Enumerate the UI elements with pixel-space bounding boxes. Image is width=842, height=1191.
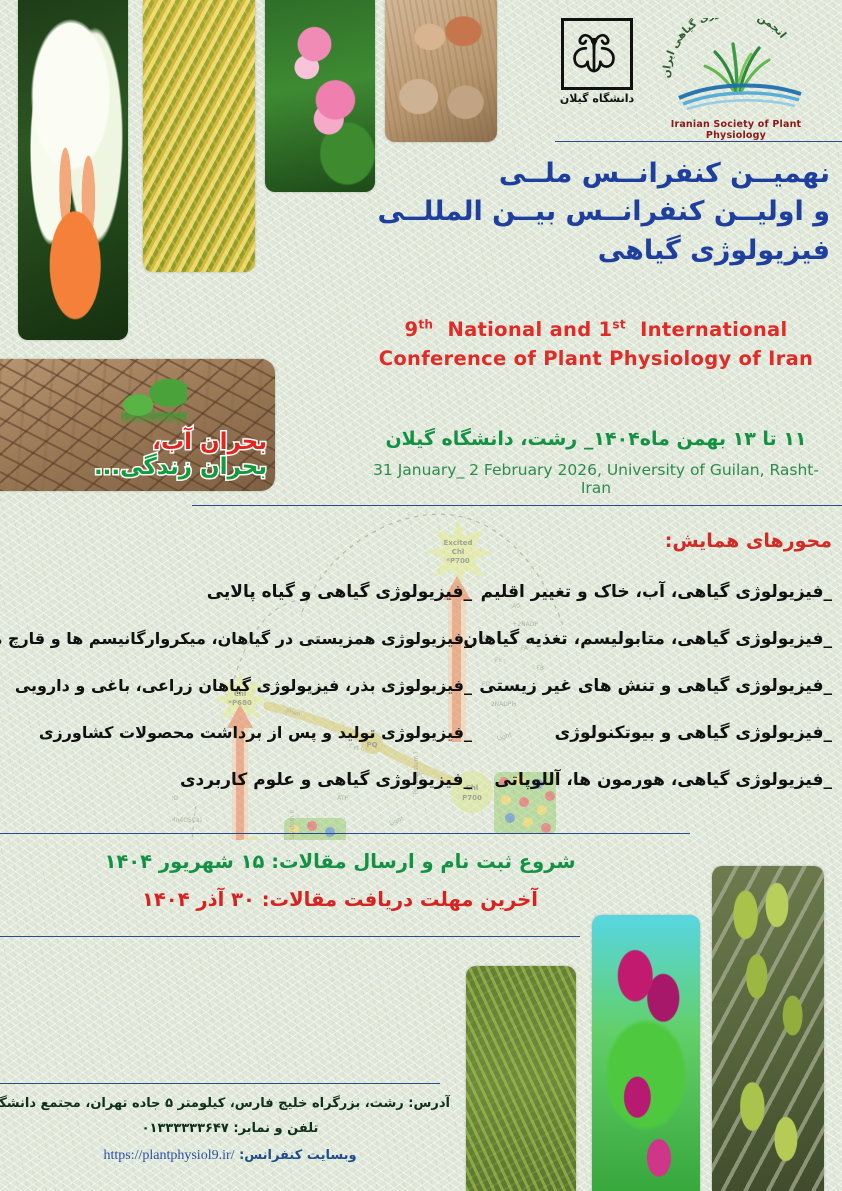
title-en-mid: National and 1 xyxy=(447,318,612,341)
topic-item-r4: _فیزیولوژی گیاهی و بیوتکنولوژی xyxy=(442,723,832,770)
conference-poster: دانشگاه گیلان انجمن فیزیولوژی گیاهی ایرا… xyxy=(0,0,842,1191)
footer-phone: تلفن و نمابر: ۰۱۳۳۳۳۳۳۶۴۷ xyxy=(10,1121,450,1136)
iranian-society-of-plant-physiology-logo: انجمن فیزیولوژی گیاهی ایران Iranian Soci… xyxy=(661,18,811,141)
photo-dry-soil-sprout: بحران آب، بحران زندگی... xyxy=(0,359,275,491)
deadline-registration: شروع ثبت نام و ارسال مقالات: ۱۵ شهریور ۱… xyxy=(60,850,620,873)
svg-text:Excited: Excited xyxy=(444,539,473,547)
title-en-sup-st: st xyxy=(612,318,625,332)
svg-text:انجمن فیزیولوژی گیاهی ایران: انجمن فیزیولوژی گیاهی ایران xyxy=(661,18,788,79)
title-fa-line-1: نهمیــن کنفرانــس ملــی xyxy=(378,155,830,193)
photo-lily xyxy=(18,0,128,340)
divider-above-deadlines xyxy=(0,833,690,834)
title-en-line-2: Conference of Plant Physiology of Iran xyxy=(360,344,832,373)
topics-right-column: _فیزیولوژی گیاهی، آب، خاک و تغییر اقلیم … xyxy=(442,582,832,817)
title-en-sup-th: th xyxy=(418,318,433,332)
photo-echium xyxy=(592,915,700,1191)
guilan-emblem-icon xyxy=(561,18,633,90)
slogan-line-2: بحران زندگی... xyxy=(94,454,267,480)
footer-address: آدرس: رشت، بزرگراه خلیج فارس، کیلومتر ۵ … xyxy=(10,1096,450,1111)
logo-row: دانشگاه گیلان انجمن فیزیولوژی گیاهی ایرا… xyxy=(555,18,811,141)
title-en-ordinal-9: 9 xyxy=(405,318,419,341)
svg-text:(Mn4O5Ca): (Mn4O5Ca) xyxy=(172,817,202,824)
svg-text:P700*: P700* xyxy=(446,557,470,565)
photo-lotus xyxy=(265,0,375,192)
photo-herbs xyxy=(466,966,576,1191)
society-emblem-icon: انجمن فیزیولوژی گیاهی ایران xyxy=(661,18,811,114)
topic-item-r5: _فیزیولوژی گیاهی، هورمون ها، آللوپاتی xyxy=(442,770,832,817)
topic-item-r2: _فیزیولوژی گیاهی، متابولیسم، تغذیه گیاها… xyxy=(442,629,832,676)
deadline-submission: آخرین مهلت دریافت مقالات: ۳۰ آذر ۱۴۰۴ xyxy=(60,888,620,911)
english-title-block: 9th National and 1st International Confe… xyxy=(360,315,832,374)
topics-heading: محورهای همایش: xyxy=(542,530,832,552)
topic-item-l2: _فیزیولوژی همزیستی در گیاهان، میکروارگان… xyxy=(8,629,472,676)
topics-left-column: _فیزیولوژی گیاهی و گیاه پالایی _فیزیولوژ… xyxy=(8,582,472,817)
persian-title-block: نهمیــن کنفرانــس ملــی و اولیــن کنفران… xyxy=(378,155,830,270)
university-of-guilan-logo: دانشگاه گیلان xyxy=(555,18,639,105)
title-fa-line-2: و اولیــن کنفرانــس بیــن المللــی xyxy=(378,193,830,231)
title-en-post: International xyxy=(640,318,787,341)
footer-website-url[interactable]: https://plantphysiol9.ir/ xyxy=(103,1148,234,1163)
title-en-line-1: 9th National and 1st International xyxy=(360,315,832,344)
title-fa-line-3: فیزیولوژی گیاهی xyxy=(378,232,830,270)
photo-rice xyxy=(143,0,255,272)
topic-item-l3: _فیزیولوژی بذر، فیزیولوژی گیاهان زراعی، … xyxy=(8,676,472,723)
guilan-logo-caption: دانشگاه گیلان xyxy=(555,92,639,105)
water-crisis-slogan: بحران آب، بحران زندگی... xyxy=(94,430,267,482)
topic-item-l4: _فیزیولوژی تولید و پس از برداشت محصولات … xyxy=(8,723,472,770)
footer-website-label: وبسایت کنفرانس: xyxy=(239,1148,356,1163)
svg-text:Chl: Chl xyxy=(452,548,465,556)
topic-item-r1: _فیزیولوژی گیاهی، آب، خاک و تغییر اقلیم xyxy=(442,582,832,629)
topic-item-r3: _فیزیولوژی گیاهی و تنش های غیر زیستی xyxy=(442,676,832,723)
society-logo-caption: Iranian Society of Plant Physiology xyxy=(661,119,811,141)
topic-item-l1: _فیزیولوژی گیاهی و گیاه پالایی xyxy=(8,582,472,629)
photo-nuts xyxy=(385,0,497,142)
divider-below-deadlines xyxy=(0,936,580,937)
divider-under-banner xyxy=(192,505,842,506)
date-persian: ۱۱ تا ۱۳ بهمن ماه۱۴۰۴_ رشت، دانشگاه گیلا… xyxy=(360,428,832,450)
date-block: ۱۱ تا ۱۳ بهمن ماه۱۴۰۴_ رشت، دانشگاه گیلا… xyxy=(360,428,832,497)
footer-website-row: وبسایت کنفرانس: https://plantphysiol9.ir… xyxy=(10,1148,450,1164)
divider-under-logos xyxy=(555,141,842,142)
photo-olives xyxy=(712,866,824,1191)
topic-item-l5: _فیزیولوژی گیاهی و علوم کاربردی xyxy=(8,770,472,817)
divider-above-footer xyxy=(0,1083,440,1084)
date-english: 31 January_ 2 February 2026, University … xyxy=(360,461,832,497)
slogan-line-1: بحران آب، xyxy=(152,429,267,455)
